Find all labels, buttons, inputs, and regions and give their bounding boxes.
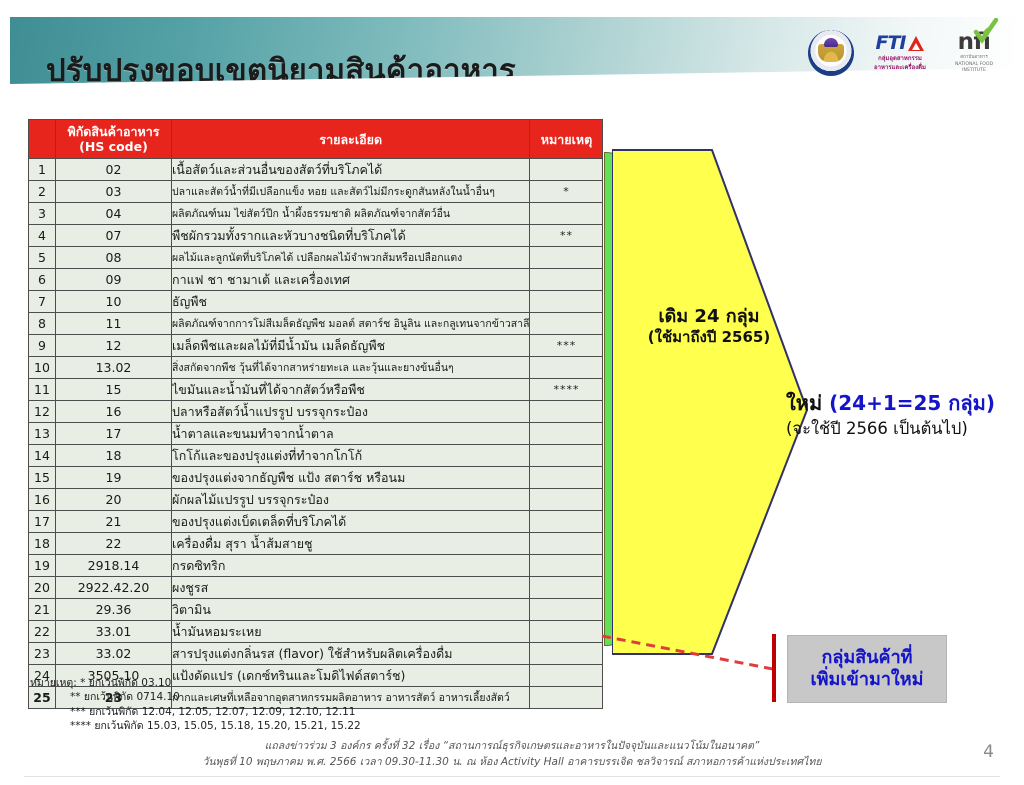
table-row: 1620ผักผลไม้แปรรูป บรรจุกระป๋อง bbox=[29, 489, 603, 511]
table-row: 304ผลิตภัณฑ์นม ไข่สัตว์ปีก น้ำผึ้งธรรมชา… bbox=[29, 203, 603, 225]
table-header-row: พิกัดสินค้าอาหาร (HS code) รายละเอียด หม… bbox=[29, 120, 603, 159]
cell-note: * bbox=[530, 181, 603, 203]
cell-detail: วิตามิน bbox=[172, 599, 530, 621]
cell-note bbox=[530, 621, 603, 643]
footer-line-1: แถลงข่าวร่วม 3 องค์กร ครั้งที่ 32 เรื่อง… bbox=[0, 738, 1024, 754]
table-row: 912เมล็ดพืชและผลไม้ที่มีน้ำมัน เมล็ดธัญพ… bbox=[29, 335, 603, 357]
new-product-group-line2: เพิ่มเข้ามาใหม่ bbox=[811, 669, 924, 690]
cell-index: 8 bbox=[29, 313, 56, 335]
footnote-4: **** ยกเว้นพิกัด 15.03, 15.05, 15.18, 15… bbox=[30, 719, 361, 733]
cell-detail: ปลาหรือสัตว์น้ำแปรรูป บรรจุกระป๋อง bbox=[172, 401, 530, 423]
table-row: 508ผลไม้และลูกนัตที่บริโภคได้ เปลือกผลไม… bbox=[29, 247, 603, 269]
cell-index: 2 bbox=[29, 181, 56, 203]
cell-detail: สารปรุงแต่งกลิ่นรส (flavor) ใช้สำหรับผลิ… bbox=[172, 643, 530, 665]
cell-note bbox=[530, 247, 603, 269]
nfi-subtitle: สถาบันอาหารNATIONAL FOOD INSTITUTE bbox=[946, 55, 1002, 76]
cell-note bbox=[530, 533, 603, 555]
cell-hscode: 03 bbox=[56, 181, 172, 203]
cell-note bbox=[530, 687, 603, 709]
cell-note bbox=[530, 269, 603, 291]
cell-note bbox=[530, 643, 603, 665]
slide-footer: แถลงข่าวร่วม 3 องค์กร ครั้งที่ 32 เรื่อง… bbox=[0, 738, 1024, 771]
cell-note bbox=[530, 401, 603, 423]
cell-detail: ผงชูรส bbox=[172, 577, 530, 599]
footnote-3: *** ยกเว้นพิกัด 12.04, 12.05, 12.07, 12.… bbox=[30, 705, 361, 719]
nfi-logo: nfi สถาบันอาหารNATIONAL FOOD INSTITUTE bbox=[946, 31, 1002, 76]
cell-hscode: 17 bbox=[56, 423, 172, 445]
cell-index: 19 bbox=[29, 555, 56, 577]
cell-detail: กรดซิทริก bbox=[172, 555, 530, 577]
slide-canvas: ปรับปรุงขอบเขตนิยามสินค้าอาหาร FTI กลุ่ม… bbox=[0, 0, 1024, 785]
cell-detail: ผักผลไม้แปรรูป บรรจุกระป๋อง bbox=[172, 489, 530, 511]
table-row: 710ธัญพืช bbox=[29, 291, 603, 313]
cell-index: 15 bbox=[29, 467, 56, 489]
cell-hscode: 29.36 bbox=[56, 599, 172, 621]
cell-note bbox=[530, 489, 603, 511]
cell-note bbox=[530, 467, 603, 489]
table-row: 2333.02สารปรุงแต่งกลิ่นรส (flavor) ใช้สำ… bbox=[29, 643, 603, 665]
table-row: 1115ไขมันและน้ำมันที่ได้จากสัตว์หรือพืช*… bbox=[29, 379, 603, 401]
cell-hscode: 16 bbox=[56, 401, 172, 423]
cell-hscode: 04 bbox=[56, 203, 172, 225]
new-groups-line2: (จะใช้ปี 2566 เป็นต้นไป) bbox=[786, 418, 1024, 439]
cell-detail: ธัญพืช bbox=[172, 291, 530, 313]
red-vertical-bar bbox=[772, 634, 776, 702]
cell-index: 10 bbox=[29, 357, 56, 379]
cell-detail: เนื้อสัตว์และส่วนอื่นของสัตว์ที่บริโภคได… bbox=[172, 159, 530, 181]
new-groups-prefix: ใหม่ bbox=[786, 391, 822, 415]
page-number: 4 bbox=[983, 742, 994, 762]
table-row: 1317น้ำตาลและขนมทำจากน้ำตาล bbox=[29, 423, 603, 445]
cell-index: 20 bbox=[29, 577, 56, 599]
cell-hscode: 22 bbox=[56, 533, 172, 555]
cell-hscode: 19 bbox=[56, 467, 172, 489]
cell-index: 11 bbox=[29, 379, 56, 401]
cell-note: **** bbox=[530, 379, 603, 401]
table-row: 2129.36วิตามิน bbox=[29, 599, 603, 621]
cell-index: 18 bbox=[29, 533, 56, 555]
cell-note bbox=[530, 665, 603, 687]
table-row: 192918.14กรดซิทริก bbox=[29, 555, 603, 577]
cell-index: 22 bbox=[29, 621, 56, 643]
table-row: 203ปลาและสัตว์น้ำที่มีเปลือกแข็ง หอย และ… bbox=[29, 181, 603, 203]
cell-index: 21 bbox=[29, 599, 56, 621]
cell-index: 9 bbox=[29, 335, 56, 357]
footnote-2: ** ยกเว้นพิกัด 0714.10 bbox=[30, 690, 361, 704]
cell-hscode: 10 bbox=[56, 291, 172, 313]
cell-note: ** bbox=[530, 225, 603, 247]
cell-note bbox=[530, 445, 603, 467]
cell-detail: เครื่องดื่ม สุรา น้ำส้มสายชู bbox=[172, 533, 530, 555]
table-row: 2233.01น้ำมันหอมระเหย bbox=[29, 621, 603, 643]
cell-detail: โกโก้และของปรุงแต่งที่ทำจากโกโก้ bbox=[172, 445, 530, 467]
cell-hscode: 11 bbox=[56, 313, 172, 335]
table-row: 102เนื้อสัตว์และส่วนอื่นของสัตว์ที่บริโภ… bbox=[29, 159, 603, 181]
cell-detail: กาแฟ ชา ชามาเต้ และเครื่องเทศ bbox=[172, 269, 530, 291]
footer-divider bbox=[24, 776, 1000, 777]
cell-index: 1 bbox=[29, 159, 56, 181]
cell-detail: ของปรุงแต่งจากธัญพืช แป้ง สตาร์ช หรือนม bbox=[172, 467, 530, 489]
footnote-1: * ยกเว้นพิกัด 03.10 bbox=[80, 677, 171, 689]
old-groups-line1: เดิม 24 กลุ่ม bbox=[625, 305, 793, 328]
cell-detail: น้ำมันหอมระเหย bbox=[172, 621, 530, 643]
table-body: 102เนื้อสัตว์และส่วนอื่นของสัตว์ที่บริโภ… bbox=[29, 159, 603, 709]
col-header-detail: รายละเอียด bbox=[172, 120, 530, 159]
cell-hscode: 33.02 bbox=[56, 643, 172, 665]
new-product-group-line1: กลุ่มสินค้าที่ bbox=[821, 647, 912, 668]
cell-hscode: 08 bbox=[56, 247, 172, 269]
new-groups-value: (24+1=25 กลุ่ม) bbox=[829, 391, 995, 415]
cell-detail: เมล็ดพืชและผลไม้ที่มีน้ำมัน เมล็ดธัญพืช bbox=[172, 335, 530, 357]
cell-note bbox=[530, 423, 603, 445]
cell-index: 6 bbox=[29, 269, 56, 291]
fti-triangle-icon bbox=[908, 36, 925, 52]
table-row: 1519ของปรุงแต่งจากธัญพืช แป้ง สตาร์ช หรื… bbox=[29, 467, 603, 489]
cell-note bbox=[530, 599, 603, 621]
hs-code-table: พิกัดสินค้าอาหาร (HS code) รายละเอียด หม… bbox=[28, 119, 603, 709]
col-header-index bbox=[29, 120, 56, 159]
fti-logo: FTI กลุ่มอุตสาหกรรมอาหารและเครื่องดื่ม bbox=[863, 34, 937, 71]
footnotes-label: หมายเหตุ: bbox=[30, 677, 77, 689]
cell-hscode: 02 bbox=[56, 159, 172, 181]
cell-index: 4 bbox=[29, 225, 56, 247]
cell-hscode: 13.02 bbox=[56, 357, 172, 379]
cell-hscode: 2918.14 bbox=[56, 555, 172, 577]
new-groups-callout: ใหม่ (24+1=25 กลุ่ม) (จะใช้ปี 2566 เป็นต… bbox=[786, 390, 1024, 439]
table-row: 609กาแฟ ชา ชามาเต้ และเครื่องเทศ bbox=[29, 269, 603, 291]
new-product-group-box: กลุ่มสินค้าที่ เพิ่มเข้ามาใหม่ bbox=[787, 635, 947, 703]
cell-detail: พืชผักรวมทั้งรากและหัวบางชนิดที่บริโภคได… bbox=[172, 225, 530, 247]
cell-hscode: 33.01 bbox=[56, 621, 172, 643]
cell-index: 16 bbox=[29, 489, 56, 511]
logo-group: FTI กลุ่มอุตสาหกรรมอาหารและเครื่องดื่ม n… bbox=[808, 22, 1002, 84]
cell-note bbox=[530, 159, 603, 181]
cell-hscode: 12 bbox=[56, 335, 172, 357]
cell-detail: ผลิตภัณฑ์นม ไข่สัตว์ปีก น้ำผึ้งธรรมชาติ … bbox=[172, 203, 530, 225]
old-groups-line2: (ใช้มาถึงปี 2565) bbox=[625, 328, 793, 347]
nfi-leaf-check-icon bbox=[973, 18, 999, 44]
thai-chamber-of-commerce-seal-icon bbox=[808, 30, 854, 76]
cell-detail: ผลไม้และลูกนัตที่บริโภคได้ เปลือกผลไม้จำ… bbox=[172, 247, 530, 269]
cell-note bbox=[530, 203, 603, 225]
table-row: 1418โกโก้และของปรุงแต่งที่ทำจากโกโก้ bbox=[29, 445, 603, 467]
cell-detail: ผลิตภัณฑ์จากการโม่สีเมล็ดธัญพืช มอลต์ สต… bbox=[172, 313, 530, 335]
table-row: 202922.42.20ผงชูรส bbox=[29, 577, 603, 599]
table-row: 407พืชผักรวมทั้งรากและหัวบางชนิดที่บริโภ… bbox=[29, 225, 603, 247]
cell-index: 3 bbox=[29, 203, 56, 225]
table-row: 1721ของปรุงแต่งเบ็ดเตล็ดที่บริโภคได้ bbox=[29, 511, 603, 533]
cell-detail: สิ่งสกัดจากพืช วุ้นที่ได้จากสาหร่ายทะเล … bbox=[172, 357, 530, 379]
cell-note: *** bbox=[530, 335, 603, 357]
table-row: 1216ปลาหรือสัตว์น้ำแปรรูป บรรจุกระป๋อง bbox=[29, 401, 603, 423]
cell-hscode: 20 bbox=[56, 489, 172, 511]
fti-wordmark: FTI bbox=[875, 34, 905, 53]
cell-hscode: 15 bbox=[56, 379, 172, 401]
cell-index: 17 bbox=[29, 511, 56, 533]
cell-hscode: 09 bbox=[56, 269, 172, 291]
cell-detail: น้ำตาลและขนมทำจากน้ำตาล bbox=[172, 423, 530, 445]
old-groups-callout: เดิม 24 กลุ่ม (ใช้มาถึงปี 2565) bbox=[625, 305, 793, 347]
cell-index: 23 bbox=[29, 643, 56, 665]
cell-note bbox=[530, 313, 603, 335]
table-row: 1013.02สิ่งสกัดจากพืช วุ้นที่ได้จากสาหร่… bbox=[29, 357, 603, 379]
fti-subtitle: กลุ่มอุตสาหกรรมอาหารและเครื่องดื่ม bbox=[863, 55, 937, 71]
cell-index: 14 bbox=[29, 445, 56, 467]
cell-index: 5 bbox=[29, 247, 56, 269]
cell-index: 13 bbox=[29, 423, 56, 445]
cell-note bbox=[530, 577, 603, 599]
col-header-note: หมายเหตุ bbox=[530, 120, 603, 159]
cell-note bbox=[530, 291, 603, 313]
cell-index: 12 bbox=[29, 401, 56, 423]
footer-line-2: วันพุธที่ 10 พฤษภาคม พ.ศ. 2566 เวลา 09.3… bbox=[0, 754, 1024, 770]
cell-hscode: 21 bbox=[56, 511, 172, 533]
cell-hscode: 2922.42.20 bbox=[56, 577, 172, 599]
page-title: ปรับปรุงขอบเขตนิยามสินค้าอาหาร bbox=[46, 45, 516, 92]
cell-note bbox=[530, 357, 603, 379]
cell-note bbox=[530, 555, 603, 577]
cell-hscode: 07 bbox=[56, 225, 172, 247]
cell-note bbox=[530, 511, 603, 533]
table-row: 1822เครื่องดื่ม สุรา น้ำส้มสายชู bbox=[29, 533, 603, 555]
table-row: 811ผลิตภัณฑ์จากการโม่สีเมล็ดธัญพืช มอลต์… bbox=[29, 313, 603, 335]
cell-index: 7 bbox=[29, 291, 56, 313]
cell-hscode: 18 bbox=[56, 445, 172, 467]
cell-detail: ของปรุงแต่งเบ็ดเตล็ดที่บริโภคได้ bbox=[172, 511, 530, 533]
cell-detail: ไขมันและน้ำมันที่ได้จากสัตว์หรือพืช bbox=[172, 379, 530, 401]
col-header-hscode: พิกัดสินค้าอาหาร (HS code) bbox=[56, 120, 172, 159]
dashed-connector-line bbox=[600, 634, 780, 674]
footnotes-block: หมายเหตุ: * ยกเว้นพิกัด 03.10 ** ยกเว้นพ… bbox=[30, 676, 361, 734]
cell-detail: ปลาและสัตว์น้ำที่มีเปลือกแข็ง หอย และสัต… bbox=[172, 181, 530, 203]
